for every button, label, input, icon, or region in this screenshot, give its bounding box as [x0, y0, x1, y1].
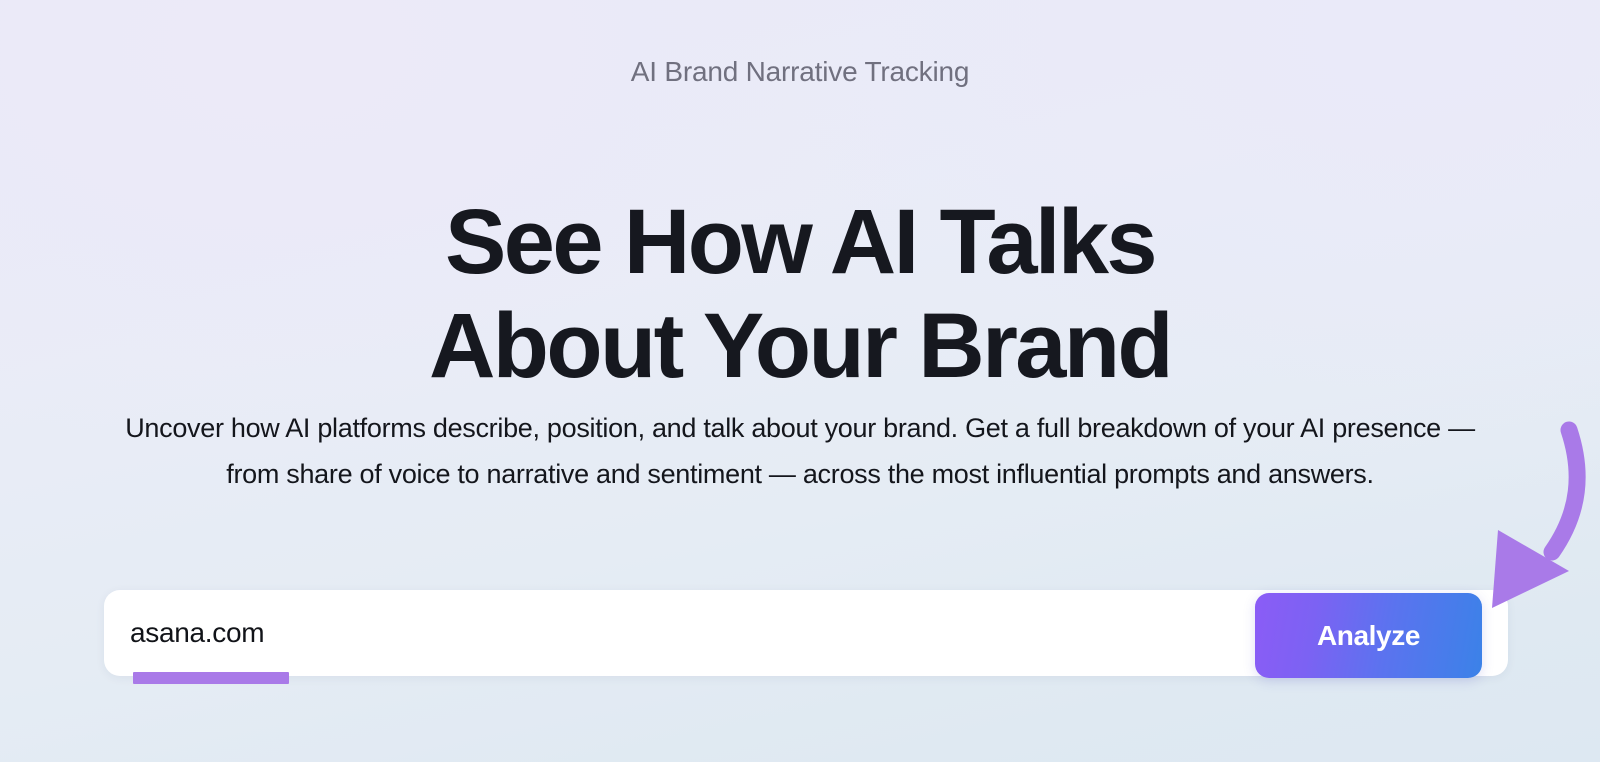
page-subtitle: Uncover how AI platforms describe, posit… — [100, 405, 1500, 497]
hero-content: AI Brand Narrative Tracking See How AI T… — [0, 0, 1600, 762]
domain-input[interactable] — [130, 590, 1230, 676]
page-title: See How AI Talks About Your Brand — [0, 190, 1600, 398]
analyze-button[interactable]: Analyze — [1255, 593, 1482, 678]
input-underline-accent — [133, 672, 289, 684]
page-title-line-1: See How AI Talks — [0, 190, 1600, 294]
page-title-line-2: About Your Brand — [0, 294, 1600, 398]
hero-section: AI Brand Narrative Tracking See How AI T… — [0, 0, 1600, 762]
eyebrow-label: AI Brand Narrative Tracking — [0, 52, 1600, 92]
domain-search-form: Analyze — [104, 590, 1508, 678]
